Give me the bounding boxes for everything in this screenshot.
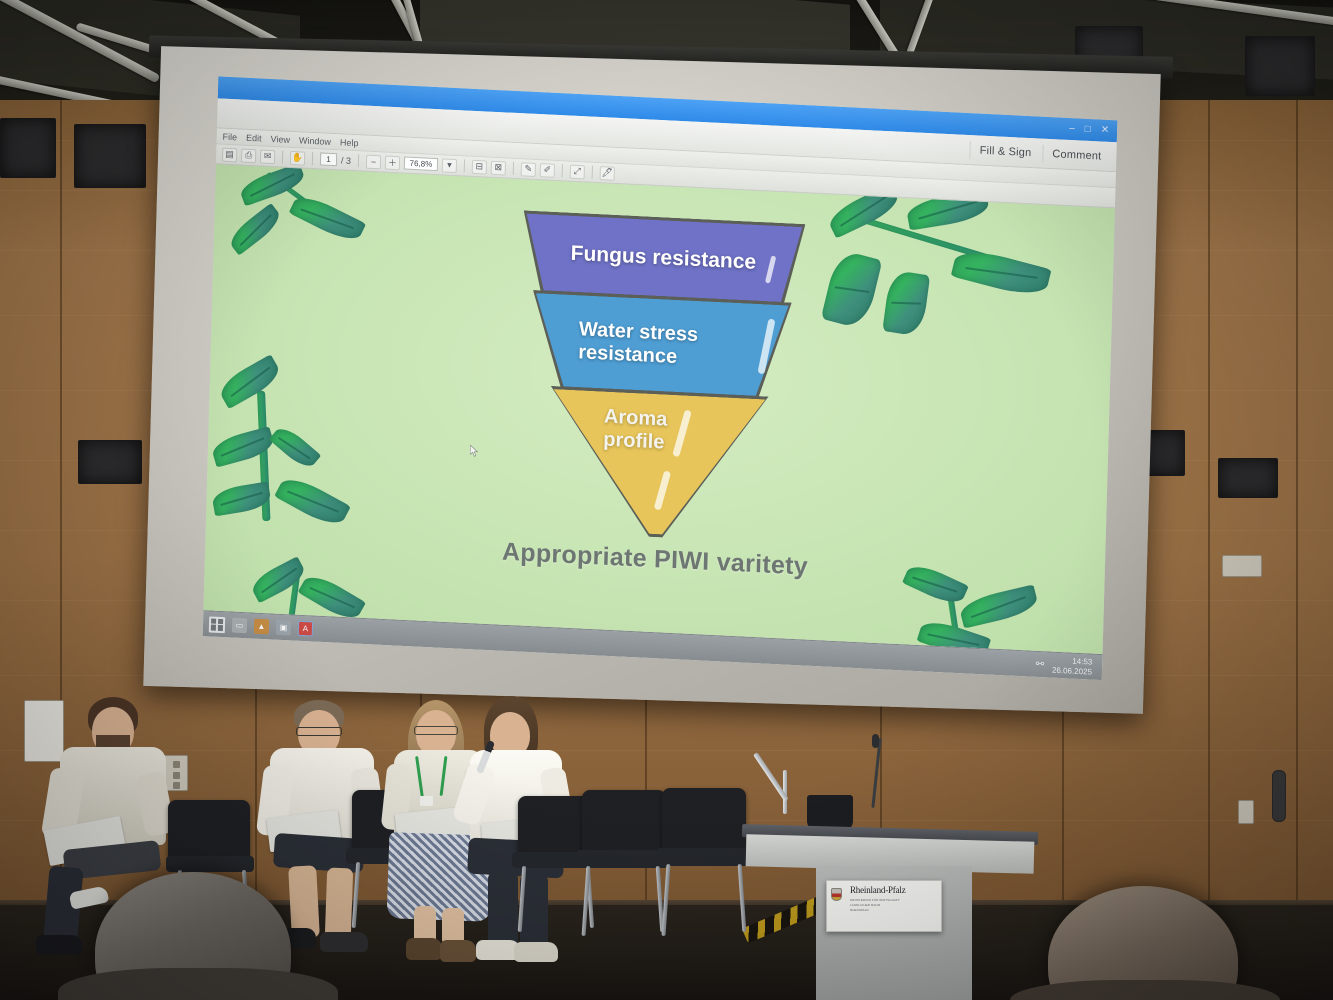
chair[interactable] bbox=[662, 788, 746, 850]
funnel-diagram: Fungus resistance Water stress resistanc… bbox=[206, 198, 1114, 556]
clock-date: 26.06.2025 bbox=[1052, 665, 1092, 677]
page-total-label: / 3 bbox=[341, 155, 351, 165]
start-button[interactable] bbox=[209, 616, 225, 633]
file-explorer-icon[interactable]: ▭ bbox=[232, 618, 247, 634]
hand-tool-icon[interactable]: ✋ bbox=[290, 150, 305, 165]
fullscreen-icon[interactable]: ⤢ bbox=[570, 164, 585, 179]
glasses-icon bbox=[296, 727, 342, 736]
name-badge bbox=[420, 796, 433, 806]
network-icon[interactable]: ⚯ bbox=[1036, 659, 1045, 670]
coat-of-arms-icon bbox=[831, 888, 842, 901]
funnel-label-water-stress: Water stress resistance bbox=[578, 318, 744, 372]
sign-icon[interactable]: 🖊 bbox=[600, 166, 615, 181]
acoustic-panel bbox=[78, 440, 142, 484]
leg bbox=[325, 868, 353, 939]
email-icon[interactable]: ✉ bbox=[260, 149, 275, 164]
system-tray: ⚯ 14:53 26.06.2025 bbox=[1035, 654, 1096, 677]
fit-page-icon[interactable]: ⊠ bbox=[491, 160, 506, 175]
projection-screen: – □ ✕ Fill & Sign Comment File Edit View… bbox=[143, 46, 1160, 714]
menu-item-file[interactable]: File bbox=[223, 131, 238, 142]
funnel-label-fungus: Fungus resistance bbox=[570, 242, 756, 275]
chair[interactable] bbox=[582, 790, 666, 852]
highlight-icon[interactable]: ✎ bbox=[521, 162, 536, 177]
save-icon[interactable]: ▤ bbox=[222, 147, 237, 162]
window-icon[interactable]: ▣ bbox=[276, 620, 291, 636]
chair[interactable] bbox=[168, 800, 250, 858]
sign-title: Rheinland-Pfalz bbox=[850, 885, 936, 895]
taskbar-clock[interactable]: 14:53 26.06.2025 bbox=[1052, 655, 1093, 677]
funnel-label-aroma: Aroma profile bbox=[603, 406, 714, 457]
zoom-out-icon[interactable]: − bbox=[366, 154, 381, 169]
menu-item-window[interactable]: Window bbox=[299, 135, 331, 147]
shoe bbox=[320, 932, 368, 952]
leg bbox=[488, 872, 518, 948]
fit-width-icon[interactable]: ⊟ bbox=[472, 159, 487, 174]
menu-item-help[interactable]: Help bbox=[340, 137, 359, 148]
projected-image: – □ ✕ Fill & Sign Comment File Edit View… bbox=[203, 76, 1118, 680]
leaf-decoration bbox=[248, 556, 309, 603]
fill-and-sign-button[interactable]: Fill & Sign bbox=[969, 141, 1040, 162]
conference-hall-scene: – □ ✕ Fill & Sign Comment File Edit View… bbox=[0, 0, 1333, 1000]
acoustic-panel bbox=[1218, 458, 1278, 498]
lectern-sign: Rheinland-Pfalz MINISTERIUM FÜR WIRTSCHA… bbox=[826, 880, 942, 932]
menu-item-edit[interactable]: Edit bbox=[246, 132, 262, 143]
acrobat-icon[interactable]: A bbox=[298, 621, 313, 637]
comment-button[interactable]: Comment bbox=[1042, 144, 1111, 165]
glasses-icon bbox=[414, 726, 458, 735]
wall-door-handle[interactable] bbox=[1272, 770, 1286, 822]
shoe bbox=[514, 942, 558, 962]
pdf-reader-window: – □ ✕ Fill & Sign Comment File Edit View… bbox=[203, 76, 1118, 680]
zoom-level-input[interactable]: 76,8% bbox=[404, 157, 438, 172]
chair-seat[interactable] bbox=[576, 850, 668, 868]
document-canvas[interactable]: Fungus resistance Water stress resistanc… bbox=[203, 164, 1115, 654]
funnel-segment-aroma-profile[interactable]: Aroma profile bbox=[550, 389, 766, 539]
funnel-segment-fungus-resistance[interactable]: Fungus resistance bbox=[524, 214, 802, 303]
acoustic-panel bbox=[74, 124, 146, 188]
maximize-icon[interactable]: □ bbox=[1085, 125, 1091, 135]
draw-icon[interactable]: ✐ bbox=[540, 163, 555, 178]
microphone-capsule bbox=[872, 734, 879, 748]
close-icon[interactable]: ✕ bbox=[1101, 126, 1110, 136]
media-icon[interactable]: ▲ bbox=[254, 619, 269, 635]
shoe bbox=[406, 938, 442, 960]
chair-seat[interactable] bbox=[656, 848, 750, 866]
funnel-segment-water-stress-resistance[interactable]: Water stress resistance bbox=[533, 293, 788, 397]
acoustic-panel bbox=[0, 118, 56, 178]
shoe bbox=[36, 935, 82, 955]
acoustic-panel bbox=[1245, 36, 1315, 96]
minimize-icon[interactable]: – bbox=[1069, 124, 1075, 134]
page-number-input[interactable]: 1 bbox=[320, 152, 337, 166]
sign-subtitle-3: RHEINWALD bbox=[850, 908, 936, 913]
wall-light-switch[interactable] bbox=[1238, 800, 1254, 824]
zoom-in-icon[interactable]: ＋ bbox=[385, 155, 400, 170]
slide-content: Fungus resistance Water stress resistanc… bbox=[203, 164, 1115, 654]
zoom-dropdown-icon[interactable]: ▾ bbox=[442, 158, 457, 173]
menu-item-view[interactable]: View bbox=[270, 133, 290, 144]
mouse-cursor-icon bbox=[470, 445, 479, 457]
audience-shoulder-left bbox=[58, 968, 338, 1000]
wall-exit-sign bbox=[1222, 555, 1262, 577]
print-icon[interactable]: ⎙ bbox=[241, 148, 256, 163]
